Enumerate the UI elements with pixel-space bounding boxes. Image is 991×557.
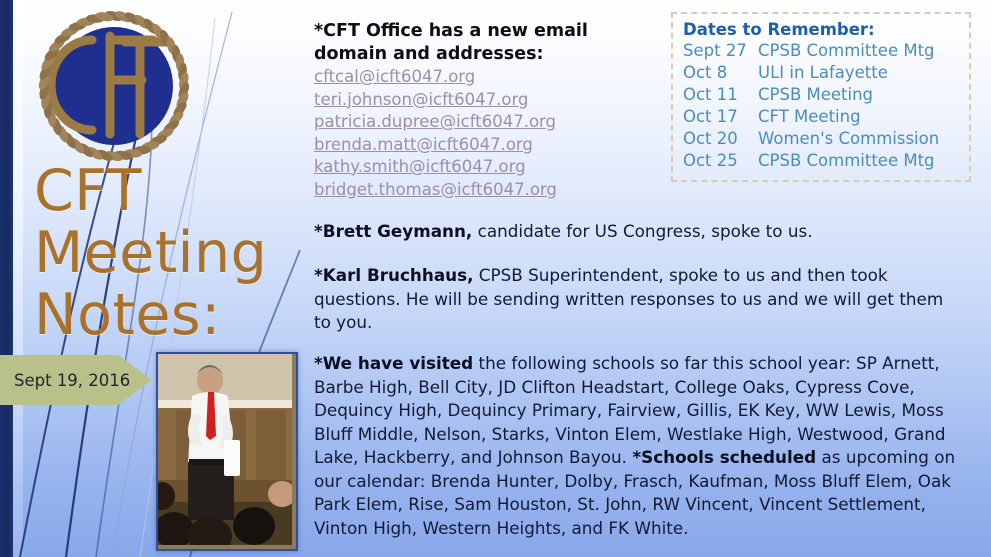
date-row: Oct 20 Women's Commission (683, 128, 961, 150)
date-value: Oct 8 (683, 62, 758, 84)
page-title: CFT Meeting Notes: (34, 160, 294, 346)
date-event: CFT Meeting (758, 106, 961, 128)
dates-box-title: Dates to Remember: (683, 20, 961, 39)
title-line-3: Notes: (34, 284, 294, 346)
date-event: Women's Commission (758, 128, 961, 150)
left-sheen-strip (13, 0, 23, 557)
date-row: Oct 25 CPSB Committee Mtg (683, 150, 961, 172)
email-address-list: cftcal@icft6047.org teri.johnson@icft604… (314, 66, 664, 201)
paragraph-brett-geymann: *Brett Geymann, candidate for US Congres… (314, 220, 959, 244)
email-link[interactable]: bridget.thomas@icft6047.org (314, 179, 664, 202)
paragraph-lead-bold: *Schools scheduled (632, 447, 816, 467)
email-domain-heading: *CFT Office has a new email domain and a… (314, 20, 659, 66)
paragraph-schools: *We have visited the following schools s… (314, 352, 959, 540)
speaker-photo (156, 352, 298, 551)
slide-content: *CFT Office has a new email domain and a… (314, 0, 974, 557)
presentation-slide: CFT Meeting Notes: Sept 19, 2016 (0, 0, 991, 557)
date-event: CPSB Committee Mtg (758, 40, 961, 62)
date-value: Sept 27 (683, 40, 758, 62)
email-link[interactable]: patricia.dupree@icft6047.org (314, 111, 664, 134)
paragraph-body: candidate for US Congress, spoke to us. (472, 221, 812, 241)
date-value: Oct 11 (683, 84, 758, 106)
cft-logo (30, 6, 198, 172)
date-row: Oct 8 ULI in Lafayette (683, 62, 961, 84)
email-link[interactable]: cftcal@icft6047.org (314, 66, 664, 89)
date-value: Oct 17 (683, 106, 758, 128)
date-event: CPSB Meeting (758, 84, 961, 106)
date-row: Oct 17 CFT Meeting (683, 106, 961, 128)
dates-to-remember-box: Dates to Remember: Sept 27 CPSB Committe… (671, 12, 971, 182)
email-link[interactable]: kathy.smith@icft6047.org (314, 156, 664, 179)
title-line-1: CFT (34, 160, 294, 222)
paragraph-karl-bruchhaus: *Karl Bruchhaus, CPSB Superintendent, sp… (314, 264, 959, 335)
cft-laurel-wreath-icon (30, 6, 198, 172)
paragraph-lead-bold: *Karl Bruchhaus, (314, 265, 473, 285)
speaker-photo-image (158, 354, 292, 545)
date-value: Oct 25 (683, 150, 758, 172)
email-link[interactable]: brenda.matt@icft6047.org (314, 134, 664, 157)
date-banner-label: Sept 19, 2016 (0, 371, 130, 390)
title-line-2: Meeting (34, 222, 294, 284)
date-row: Sept 27 CPSB Committee Mtg (683, 40, 961, 62)
date-event: CPSB Committee Mtg (758, 150, 961, 172)
paragraph-lead-bold: *We have visited (314, 353, 473, 373)
date-banner: Sept 19, 2016 (0, 355, 152, 405)
date-value: Oct 20 (683, 128, 758, 150)
paragraph-lead-bold: *Brett Geymann, (314, 221, 472, 241)
email-link[interactable]: teri.johnson@icft6047.org (314, 89, 664, 112)
date-event: ULI in Lafayette (758, 62, 961, 84)
left-navy-edge-bar (0, 0, 13, 557)
date-row: Oct 11 CPSB Meeting (683, 84, 961, 106)
